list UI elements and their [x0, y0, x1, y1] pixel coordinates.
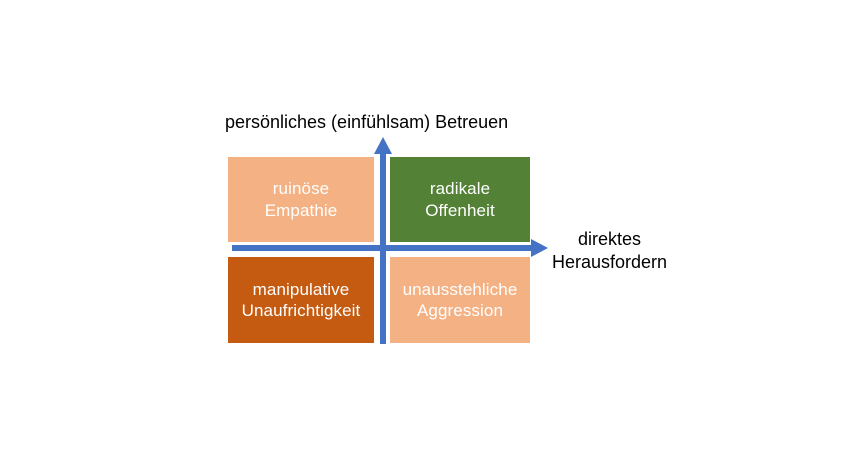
- diagram-canvas: persönliches (einfühlsam) Betreuen ruinö…: [0, 0, 847, 475]
- quadrant-bottom-right-line-1: unausstehliche: [403, 279, 518, 300]
- quadrant-top-left-line-2: Empathie: [265, 200, 338, 221]
- horizontal-axis-label: direktes Herausfordern: [552, 228, 667, 275]
- horizontal-axis-arrow-icon: [531, 239, 548, 257]
- quadrant-bottom-left-line-2: Unaufrichtigkeit: [242, 300, 361, 321]
- horizontal-axis-label-line-1: direktes: [552, 228, 667, 251]
- quadrant-bottom-left[interactable]: manipulative Unaufrichtigkeit: [228, 257, 374, 343]
- quadrant-top-left[interactable]: ruinöse Empathie: [228, 157, 374, 242]
- horizontal-axis-line: [232, 245, 536, 251]
- quadrant-bottom-right[interactable]: unausstehliche Aggression: [390, 257, 530, 343]
- quadrant-bottom-right-line-2: Aggression: [417, 300, 503, 321]
- quadrant-top-right-line-1: radikale: [430, 178, 490, 199]
- quadrant-bottom-left-line-1: manipulative: [253, 279, 350, 300]
- horizontal-axis-label-line-2: Herausfordern: [552, 251, 667, 274]
- vertical-axis-label: persönliches (einfühlsam) Betreuen: [225, 111, 508, 134]
- quadrant-top-left-line-1: ruinöse: [273, 178, 329, 199]
- quadrant-top-right-line-2: Offenheit: [425, 200, 495, 221]
- vertical-axis-arrow-icon: [374, 137, 392, 154]
- quadrant-top-right[interactable]: radikale Offenheit: [390, 157, 530, 242]
